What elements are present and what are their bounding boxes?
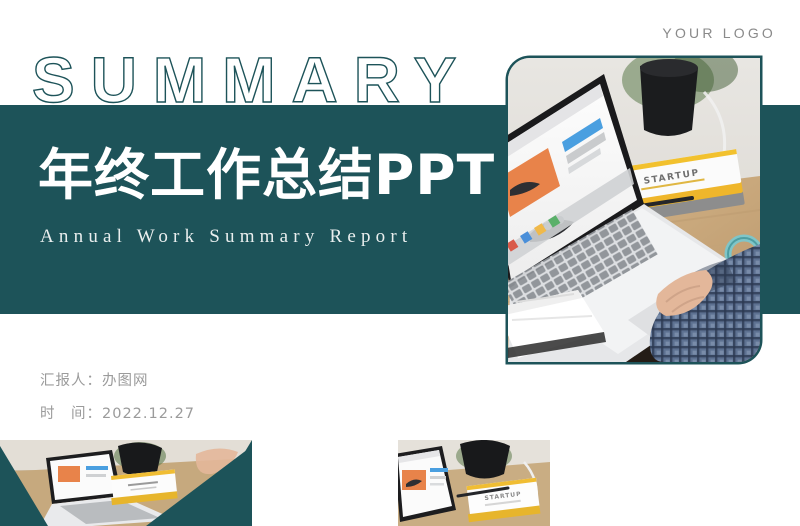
logo-placeholder-text: YOUR LOGO	[662, 25, 776, 41]
hero-photo-artwork: STARTUP	[508, 58, 760, 362]
thumbnail-slide-preview-left[interactable]	[0, 440, 252, 526]
outline-heading-summary: SUMMARY	[32, 48, 472, 112]
presentation-slide-canvas: YOUR LOGO SUMMARY 年终工作总结PPT Annual Work …	[0, 0, 800, 526]
thumbnail-right-artwork: STARTUP	[398, 440, 550, 526]
hero-photo: STARTUP	[508, 58, 760, 362]
date-line: 时 间：2022.12.27	[40, 402, 195, 423]
presenter-line: 汇报人：办图网	[40, 369, 149, 390]
slide-thumbnail-strip: STARTUP 目录 CONTENTS 01	[0, 434, 800, 526]
thumbnail-slide-preview-right[interactable]: STARTUP	[398, 440, 550, 526]
title-slide: YOUR LOGO SUMMARY 年终工作总结PPT Annual Work …	[0, 0, 800, 434]
slide-subtitle-english: Annual Work Summary Report	[40, 226, 412, 248]
slide-title-chinese: 年终工作总结PPT	[38, 148, 495, 203]
thumbnail-left-artwork	[0, 440, 252, 526]
